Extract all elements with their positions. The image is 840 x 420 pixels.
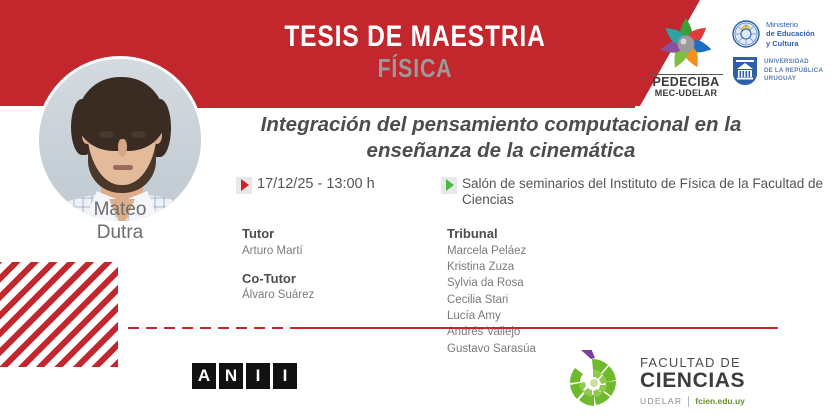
event-location-line1: Salón de seminarios del Instituto de Fís… [462, 176, 734, 191]
facultad-line2: CIENCIAS [640, 370, 745, 393]
student-name-line2: Dutra [10, 221, 230, 244]
tutor-name: Arturo Martí [242, 243, 432, 259]
tutor-label: Tutor [242, 225, 432, 243]
mec-line1: Ministerio [766, 20, 815, 29]
cotutor-name: Álvaro Suárez [242, 287, 432, 303]
event-location-text: Salón de seminarios del Instituto de Fís… [462, 176, 826, 209]
thesis-announcement-poster: TESIS DE MAESTRIA FÍSICA Mateo Dutra Int… [0, 0, 840, 420]
mec-logo: Ministerio de Educación y Cultura [732, 20, 815, 48]
mec-line3: y Cultura [766, 39, 815, 48]
nautilus-spiral-icon [556, 350, 632, 412]
avatar-nose [118, 139, 127, 157]
event-location: Salón de seminarios del Instituto de Fís… [441, 176, 826, 209]
udelar-line2: DE LA REPÚBLICA [764, 67, 823, 75]
divider-dashed [128, 327, 290, 329]
thesis-title: Integración del pensamiento computaciona… [190, 112, 812, 164]
udelar-logo: UNIVERSIDAD DE LA REPÚBLICA URUGUAY [732, 56, 823, 86]
udelar-wordmark: UNIVERSIDAD DE LA REPÚBLICA URUGUAY [764, 58, 823, 83]
pedeciba-logo: PEDECIBA MEC-UDELAR [648, 16, 724, 98]
list-item: Lucía Amy [447, 308, 697, 324]
thesis-title-line2: enseñanza de la cinemática [190, 138, 812, 164]
event-datetime: 17/12/25 - 13:00 h [236, 176, 441, 194]
avatar-eye-left [99, 131, 114, 138]
list-item: Sylvia da Rosa [447, 275, 697, 291]
divider [688, 396, 689, 407]
thesis-title-line1: Integración del pensamiento computaciona… [190, 112, 812, 138]
header-underline [195, 106, 635, 108]
tribunal-section: Tribunal Marcela Peláez Kristina Zuza Sy… [447, 225, 697, 357]
pedeciba-sub: MEC-UDELAR [649, 89, 723, 99]
anii-letter: I [273, 363, 297, 389]
facultad-footer: UDELAR fcien.edu.uy [640, 396, 745, 407]
avatar-mouth [113, 165, 133, 170]
event-meta-row: 17/12/25 - 13:00 h Salón de seminarios d… [236, 176, 826, 209]
pedeciba-wordmark: PEDECIBA MEC-UDELAR [649, 74, 723, 99]
anii-letter: I [246, 363, 270, 389]
facultad-wordmark: FACULTAD DE CIENCIAS UDELAR fcien.edu.uy [640, 356, 745, 407]
event-datetime-text: 17/12/25 - 13:00 h [257, 176, 375, 194]
header-title-line2: FÍSICA [235, 55, 596, 82]
anii-letter: N [219, 363, 243, 389]
udelar-line1: UNIVERSIDAD [764, 58, 823, 66]
tribunal-label: Tribunal [447, 225, 697, 243]
decorative-stripes [0, 262, 118, 367]
divider-solid [290, 327, 778, 329]
udelar-shield-icon [732, 56, 758, 86]
list-item: Cecilia Stari [447, 292, 697, 308]
institution-logos-top: PEDECIBA MEC-UDELAR Ministerio de Educac… [648, 16, 836, 100]
list-item: Marcela Peláez [447, 243, 697, 259]
pedeciba-star-icon [648, 16, 724, 74]
spacer [242, 259, 432, 270]
facultad-line1: FACULTAD DE [640, 356, 745, 370]
facultad-de-ciencias-logo: FACULTAD DE CIENCIAS UDELAR fcien.edu.uy [556, 350, 806, 412]
list-item: Kristina Zuza [447, 259, 697, 275]
cotutor-label: Co-Tutor [242, 270, 432, 288]
facultad-url: fcien.edu.uy [695, 396, 745, 406]
facultad-udelar: UDELAR [640, 396, 682, 406]
tutor-section: Tutor Arturo Martí Co-Tutor Álvaro Suáre… [242, 225, 432, 304]
chevron-right-icon-location [441, 177, 457, 194]
udelar-line3: URUGUAY [764, 75, 823, 83]
mec-shield-icon [732, 20, 760, 48]
avatar-eye-right [131, 131, 146, 138]
anii-logo: A N I I [192, 363, 297, 389]
header-title-line1: TESIS DE MAESTRIA [235, 22, 596, 52]
mec-line2: de Educación [766, 29, 815, 38]
header-heading: TESIS DE MAESTRIA FÍSICA [195, 22, 635, 82]
student-name-line1: Mateo [10, 198, 230, 221]
mec-wordmark: Ministerio de Educación y Cultura [766, 20, 815, 48]
anii-letter: A [192, 363, 216, 389]
chevron-right-icon-date [236, 177, 252, 194]
student-name: Mateo Dutra [10, 198, 230, 244]
